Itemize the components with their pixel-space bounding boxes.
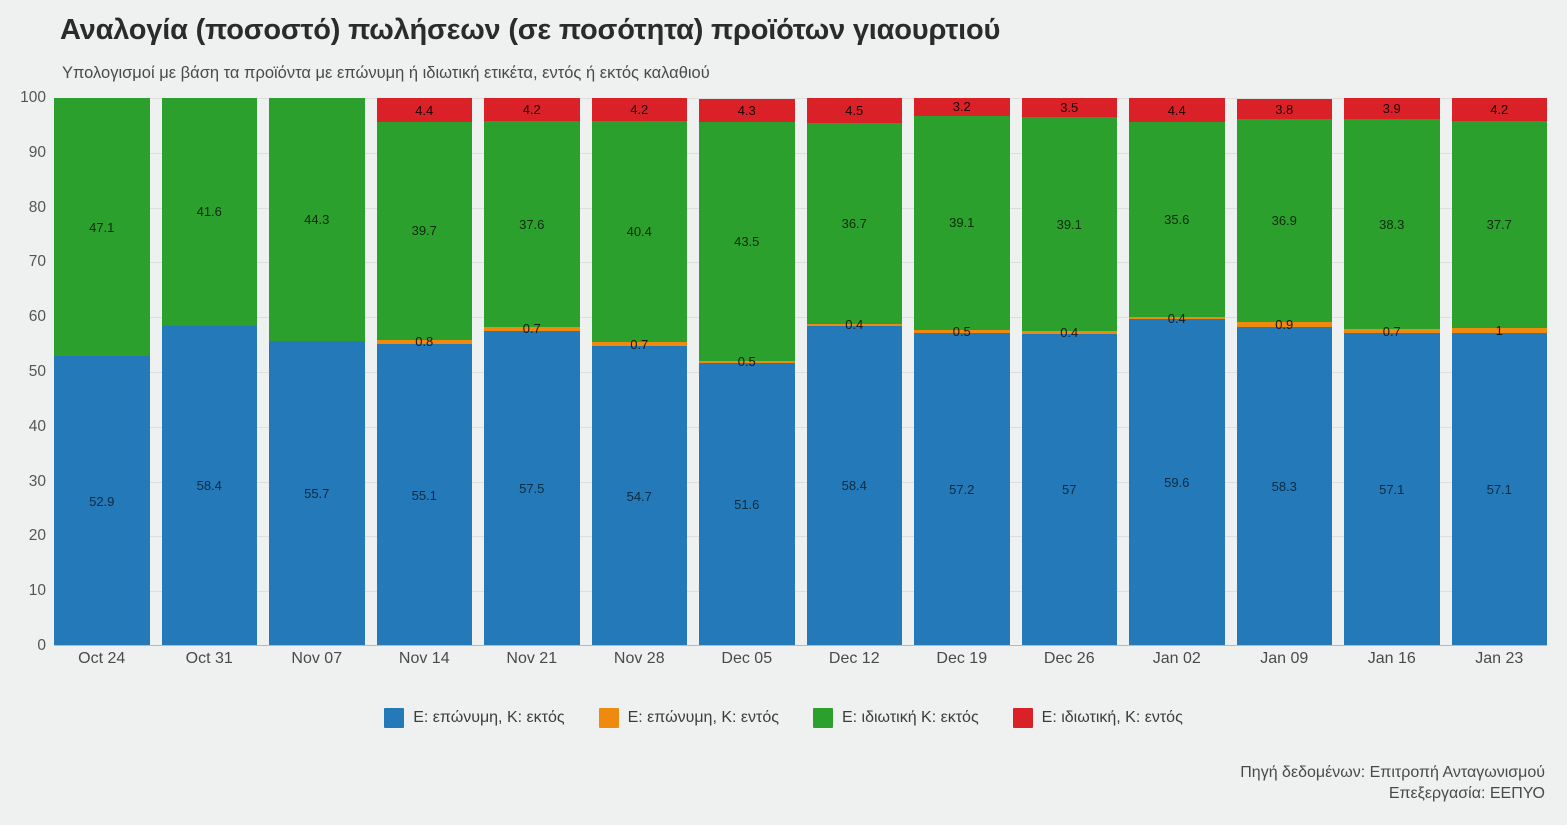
- plot-area: 47.152.941.658.444.355.74.439.70.855.14.…: [54, 98, 1547, 646]
- legend-color-swatch: [599, 708, 619, 728]
- chart-legend: Ε: επώνυμη, Κ: εκτόςΕ: επώνυμη, Κ: εντός…: [0, 708, 1567, 728]
- y-axis-tick-50: 50: [29, 363, 46, 381]
- legend-label: Ε: ιδιωτική, Κ: εντός: [1042, 709, 1183, 727]
- footer-source: Πηγή δεδομένων: Επιτροπή Ανταγωνισμού: [1240, 762, 1545, 783]
- x-axis-tick-label: Nov 21: [484, 650, 580, 678]
- bar-segment-label: 36.9: [1272, 214, 1297, 227]
- bar-segment[interactable]: 4.2: [592, 98, 688, 121]
- bar-segment-label: 43.5: [734, 235, 759, 248]
- bar-column[interactable]: 4.240.40.754.7: [592, 98, 688, 646]
- bar-segment-label: 39.1: [949, 216, 974, 229]
- bar-segment[interactable]: 51.6: [699, 363, 795, 646]
- bar-segment[interactable]: 57.1: [1344, 333, 1440, 646]
- bar-column[interactable]: 41.658.4: [162, 98, 258, 646]
- bar-column[interactable]: 3.836.90.958.3: [1237, 98, 1333, 646]
- bar-column[interactable]: 4.439.70.855.1: [377, 98, 473, 646]
- bar-segment[interactable]: 35.6: [1129, 122, 1225, 317]
- bar-segment[interactable]: 57.5: [484, 331, 580, 646]
- y-axis-tick-60: 60: [29, 308, 46, 326]
- bar-column[interactable]: 3.239.10.557.2: [914, 98, 1010, 646]
- bar-segment[interactable]: 4.5: [807, 98, 903, 123]
- chart-canvas: Αναλογία (ποσοστό) πωλήσεων (σε ποσότητα…: [0, 0, 1567, 825]
- bar-segment[interactable]: 44.3: [269, 98, 365, 341]
- bar-segment[interactable]: 57: [1022, 334, 1118, 646]
- bar-segment-label: 54.7: [627, 490, 652, 503]
- bar-segment-label: 57.2: [949, 483, 974, 496]
- bar-segment-label: 4.2: [523, 103, 541, 116]
- legend-label: Ε: επώνυμη, Κ: εντός: [628, 709, 779, 727]
- bar-segment-label: 52.9: [89, 495, 114, 508]
- page-title: Αναλογία (ποσοστό) πωλήσεων (σε ποσότητα…: [60, 14, 1000, 47]
- bar-segment[interactable]: 4.2: [1452, 98, 1548, 121]
- bar-segment[interactable]: 52.9: [54, 356, 150, 646]
- bar-segment[interactable]: 40.4: [592, 121, 688, 342]
- bar-segment[interactable]: 55.7: [269, 341, 365, 646]
- x-axis-tick-label: Dec 26: [1022, 650, 1118, 678]
- x-axis-tick-label: Oct 24: [54, 650, 150, 678]
- bar-segment[interactable]: 38.3: [1344, 119, 1440, 329]
- legend-item[interactable]: Ε: επώνυμη, Κ: εντός: [599, 708, 779, 728]
- bar-segment-label: 4.4: [1168, 104, 1186, 117]
- bar-segment[interactable]: 39.1: [1022, 117, 1118, 331]
- bar-segment-label: 57.1: [1379, 483, 1404, 496]
- bar-segment-label: 4.4: [415, 104, 433, 117]
- bar-segment[interactable]: 58.3: [1237, 327, 1333, 646]
- bar-segment[interactable]: 36.7: [807, 123, 903, 324]
- bar-segment-label: 57.5: [519, 482, 544, 495]
- bar-segment[interactable]: 4.3: [699, 99, 795, 123]
- bar-segment-label: 58.4: [842, 479, 867, 492]
- bar-segment[interactable]: 43.5: [699, 122, 795, 360]
- bar-segment-label: 41.6: [197, 205, 222, 218]
- bar-segment-label: 58.3: [1272, 480, 1297, 493]
- legend-color-swatch: [813, 708, 833, 728]
- bar-segment[interactable]: 39.7: [377, 122, 473, 340]
- bar-segment[interactable]: 54.7: [592, 346, 688, 646]
- y-axis-tick-10: 10: [29, 582, 46, 600]
- x-axis-tick-label: Nov 07: [269, 650, 365, 678]
- bar-column[interactable]: 3.539.10.457: [1022, 98, 1118, 646]
- bar-segment-label: 40.4: [627, 225, 652, 238]
- footer-processing: Επεξεργασία: ΕΕΠΥΟ: [1240, 783, 1545, 804]
- bar-segment[interactable]: 3.5: [1022, 98, 1118, 117]
- bar-segment[interactable]: 37.7: [1452, 121, 1548, 328]
- bar-segment[interactable]: 58.4: [162, 326, 258, 646]
- bar-segment[interactable]: 59.6: [1129, 319, 1225, 646]
- y-axis-tick-90: 90: [29, 144, 46, 162]
- bar-segment[interactable]: 41.6: [162, 98, 258, 326]
- bar-segment-label: 57.1: [1487, 483, 1512, 496]
- x-axis-tick-label: Jan 09: [1237, 650, 1333, 678]
- bar-segment[interactable]: 55.1: [377, 344, 473, 646]
- page-subtitle: Υπολογισμοί με βάση τα προϊόντα με επώνυ…: [62, 64, 710, 83]
- bar-column[interactable]: 3.938.30.757.1: [1344, 98, 1440, 646]
- x-axis-tick-label: Dec 19: [914, 650, 1010, 678]
- bar-segment-label: 55.7: [304, 487, 329, 500]
- footer-credits: Πηγή δεδομένων: Επιτροπή Ανταγωνισμού Επ…: [1240, 762, 1545, 804]
- bar-column[interactable]: 4.435.60.459.6: [1129, 98, 1225, 646]
- bar-segment-label: 36.7: [842, 217, 867, 230]
- y-axis-labels: 0102030405060708090100: [0, 98, 46, 646]
- x-axis-line: [54, 645, 1547, 646]
- bar-segment-label: 47.1: [89, 221, 114, 234]
- bar-segment[interactable]: 36.9: [1237, 119, 1333, 321]
- bar-segment-label: 3.5: [1060, 101, 1078, 114]
- legend-label: Ε: ιδιωτική Κ: εκτός: [842, 709, 979, 727]
- bar-segment-label: 44.3: [304, 213, 329, 226]
- y-axis-tick-70: 70: [29, 253, 46, 271]
- bar-segment-label: 55.1: [412, 489, 437, 502]
- bar-segment-label: 37.7: [1487, 218, 1512, 231]
- bar-segment-label: 4.2: [630, 103, 648, 116]
- bar-segment-label: 37.6: [519, 218, 544, 231]
- bar-series-container: 47.152.941.658.444.355.74.439.70.855.14.…: [54, 98, 1547, 646]
- y-axis-tick-80: 80: [29, 199, 46, 217]
- bar-segment-label: 4.2: [1490, 103, 1508, 116]
- bar-segment-label: 58.4: [197, 479, 222, 492]
- bar-segment[interactable]: 39.1: [914, 116, 1010, 330]
- bar-column[interactable]: 47.152.9: [54, 98, 150, 646]
- bar-segment[interactable]: 3.2: [914, 98, 1010, 116]
- bar-segment-label: 38.3: [1379, 218, 1404, 231]
- bar-segment-label: 3.2: [953, 100, 971, 113]
- bar-segment-label: 3.9: [1383, 102, 1401, 115]
- x-axis-labels: Oct 24Oct 31Nov 07Nov 14Nov 21Nov 28Dec …: [54, 650, 1547, 678]
- legend-label: Ε: επώνυμη, Κ: εκτός: [413, 709, 564, 727]
- bar-segment-label: 39.1: [1057, 218, 1082, 231]
- bar-segment-label: 39.7: [412, 224, 437, 237]
- bar-segment-label: 3.8: [1275, 103, 1293, 116]
- bar-segment[interactable]: 4.4: [1129, 98, 1225, 122]
- x-axis-tick-label: Dec 05: [699, 650, 795, 678]
- bar-segment-label: 35.6: [1164, 213, 1189, 226]
- x-axis-tick-label: Nov 28: [592, 650, 688, 678]
- bar-segment-label: 4.5: [845, 104, 863, 117]
- y-axis-tick-40: 40: [29, 418, 46, 436]
- x-axis-tick-label: Jan 02: [1129, 650, 1225, 678]
- x-axis-tick-label: Nov 14: [377, 650, 473, 678]
- legend-color-swatch: [1013, 708, 1033, 728]
- y-axis-tick-30: 30: [29, 473, 46, 491]
- bar-segment[interactable]: 37.6: [484, 121, 580, 327]
- y-axis-tick-100: 100: [20, 89, 46, 107]
- y-axis-tick-0: 0: [37, 637, 46, 655]
- bar-segment[interactable]: 57.1: [1452, 333, 1548, 646]
- bar-segment-label: 57: [1062, 483, 1076, 496]
- legend-color-swatch: [384, 708, 404, 728]
- bar-segment-label: 59.6: [1164, 476, 1189, 489]
- bar-column[interactable]: 4.536.70.458.4: [807, 98, 903, 646]
- bar-column[interactable]: 4.343.50.551.6: [699, 98, 795, 646]
- x-axis-tick-label: Dec 12: [807, 650, 903, 678]
- legend-item[interactable]: Ε: επώνυμη, Κ: εκτός: [384, 708, 564, 728]
- x-axis-tick-label: Jan 16: [1344, 650, 1440, 678]
- bar-segment[interactable]: 58.4: [807, 326, 903, 646]
- bar-column[interactable]: 4.237.7157.1: [1452, 98, 1548, 646]
- bar-segment[interactable]: 57.2: [914, 333, 1010, 646]
- bar-column[interactable]: 4.237.60.757.5: [484, 98, 580, 646]
- y-axis-tick-20: 20: [29, 527, 46, 545]
- legend-item[interactable]: Ε: ιδιωτική, Κ: εντός: [1013, 708, 1183, 728]
- bar-segment[interactable]: 47.1: [54, 98, 150, 356]
- x-axis-tick-label: Oct 31: [162, 650, 258, 678]
- bar-segment[interactable]: 3.9: [1344, 98, 1440, 119]
- bar-column[interactable]: 44.355.7: [269, 98, 365, 646]
- bar-segment[interactable]: 3.8: [1237, 99, 1333, 120]
- bar-segment[interactable]: 4.2: [484, 98, 580, 121]
- bar-segment-label: 51.6: [734, 498, 759, 511]
- legend-item[interactable]: Ε: ιδιωτική Κ: εκτός: [813, 708, 979, 728]
- bar-segment[interactable]: 4.4: [377, 98, 473, 122]
- bar-segment-label: 4.3: [738, 104, 756, 117]
- x-axis-tick-label: Jan 23: [1452, 650, 1548, 678]
